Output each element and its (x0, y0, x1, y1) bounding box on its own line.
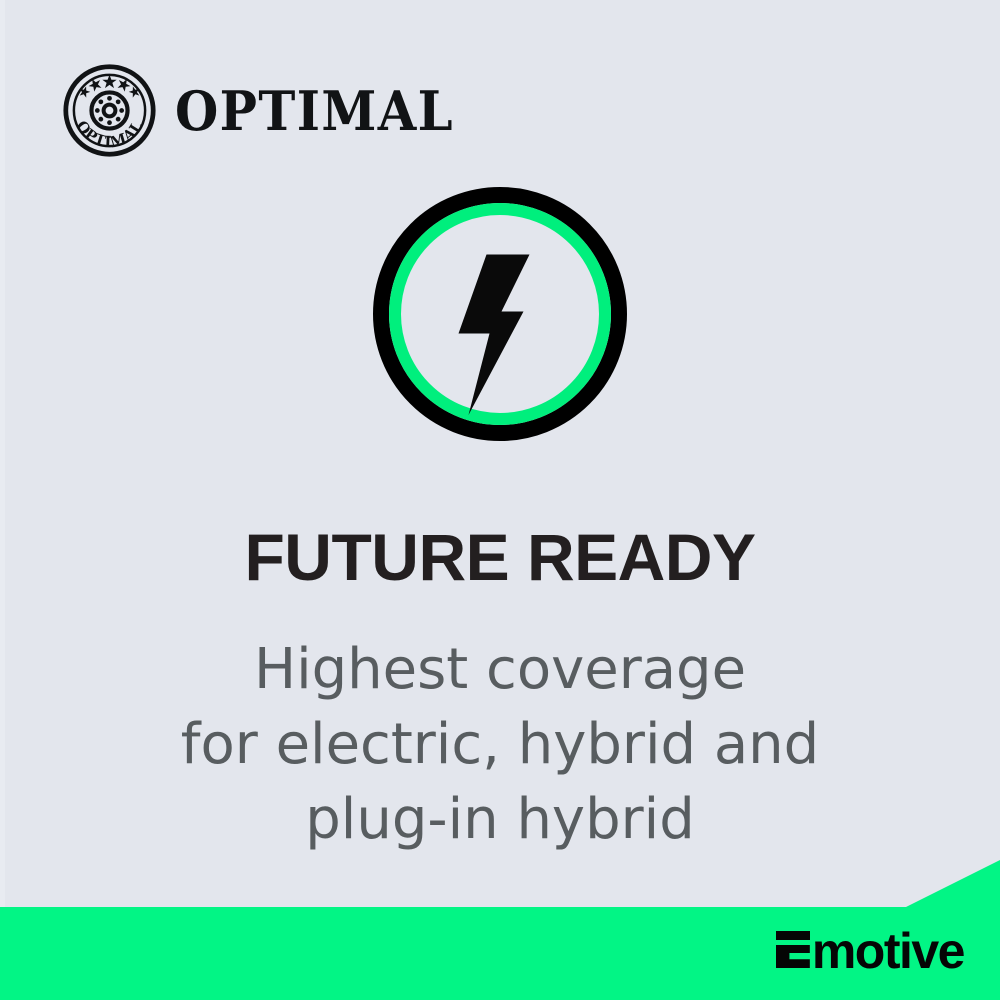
emotive-logo-text: motive (812, 926, 964, 976)
page-title: FUTURE READY (0, 524, 1000, 590)
optimal-star-bearing-badge-icon: OPTIMAL (62, 63, 157, 158)
subcopy-line-3: plug-in hybrid (0, 782, 1000, 857)
emotive-logo: motive (776, 926, 964, 976)
promo-poster: OPTIMAL OPTIMAL (0, 0, 1000, 1000)
subcopy: Highest coverage for electric, hybrid an… (0, 632, 1000, 857)
brand-wordmark: OPTIMAL (175, 84, 454, 138)
subcopy-line-2: for electric, hybrid and (0, 707, 1000, 782)
lightning-bolt-in-circle-icon (373, 187, 627, 441)
brand-lockup: OPTIMAL OPTIMAL (62, 63, 478, 158)
emotive-logo-e-glyph (776, 931, 810, 968)
banner-diagonal-wedge (904, 860, 1000, 908)
subcopy-line-1: Highest coverage (0, 632, 1000, 707)
